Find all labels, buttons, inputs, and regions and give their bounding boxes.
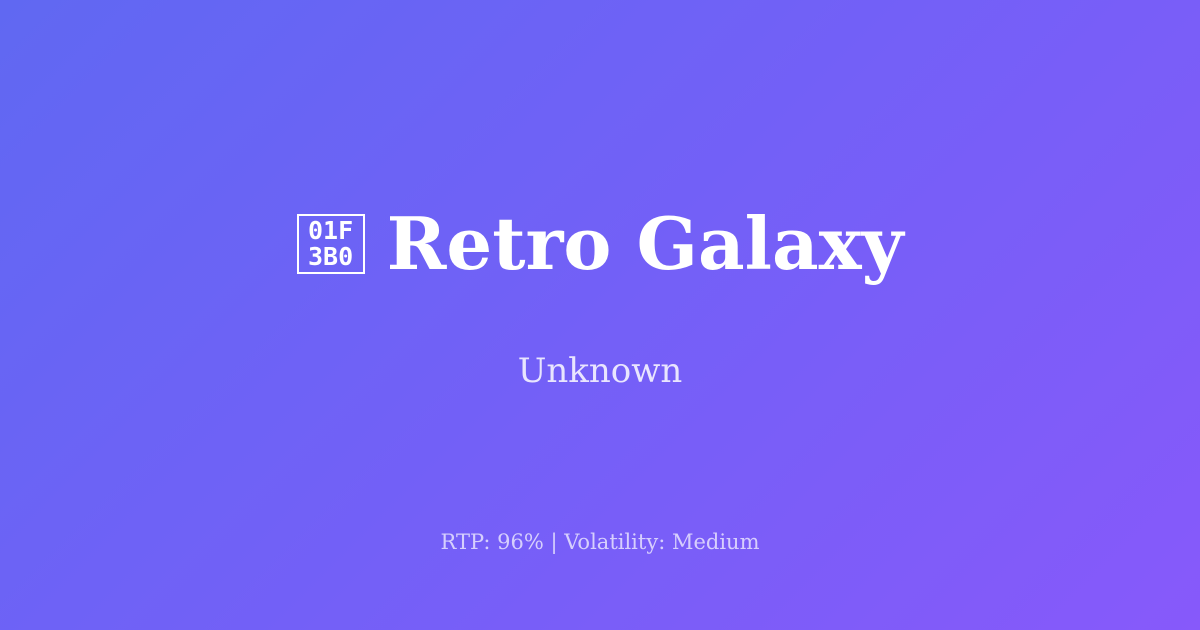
slot-machine-icon-codepoint-low: 3B0 — [308, 244, 353, 270]
game-stats-line: RTP: 96% | Volatility: Medium — [0, 528, 1200, 556]
slot-machine-icon-codepoint-high: 01F — [308, 218, 353, 244]
game-banner-card: 01F 3B0 Retro Galaxy Unknown RTP: 96% | … — [0, 0, 1200, 630]
page-title: Retro Galaxy — [387, 201, 904, 287]
slot-machine-icon: 01F 3B0 — [297, 214, 365, 274]
title-row: 01F 3B0 Retro Galaxy — [297, 196, 904, 292]
game-provider-subtitle: Unknown — [518, 350, 683, 392]
